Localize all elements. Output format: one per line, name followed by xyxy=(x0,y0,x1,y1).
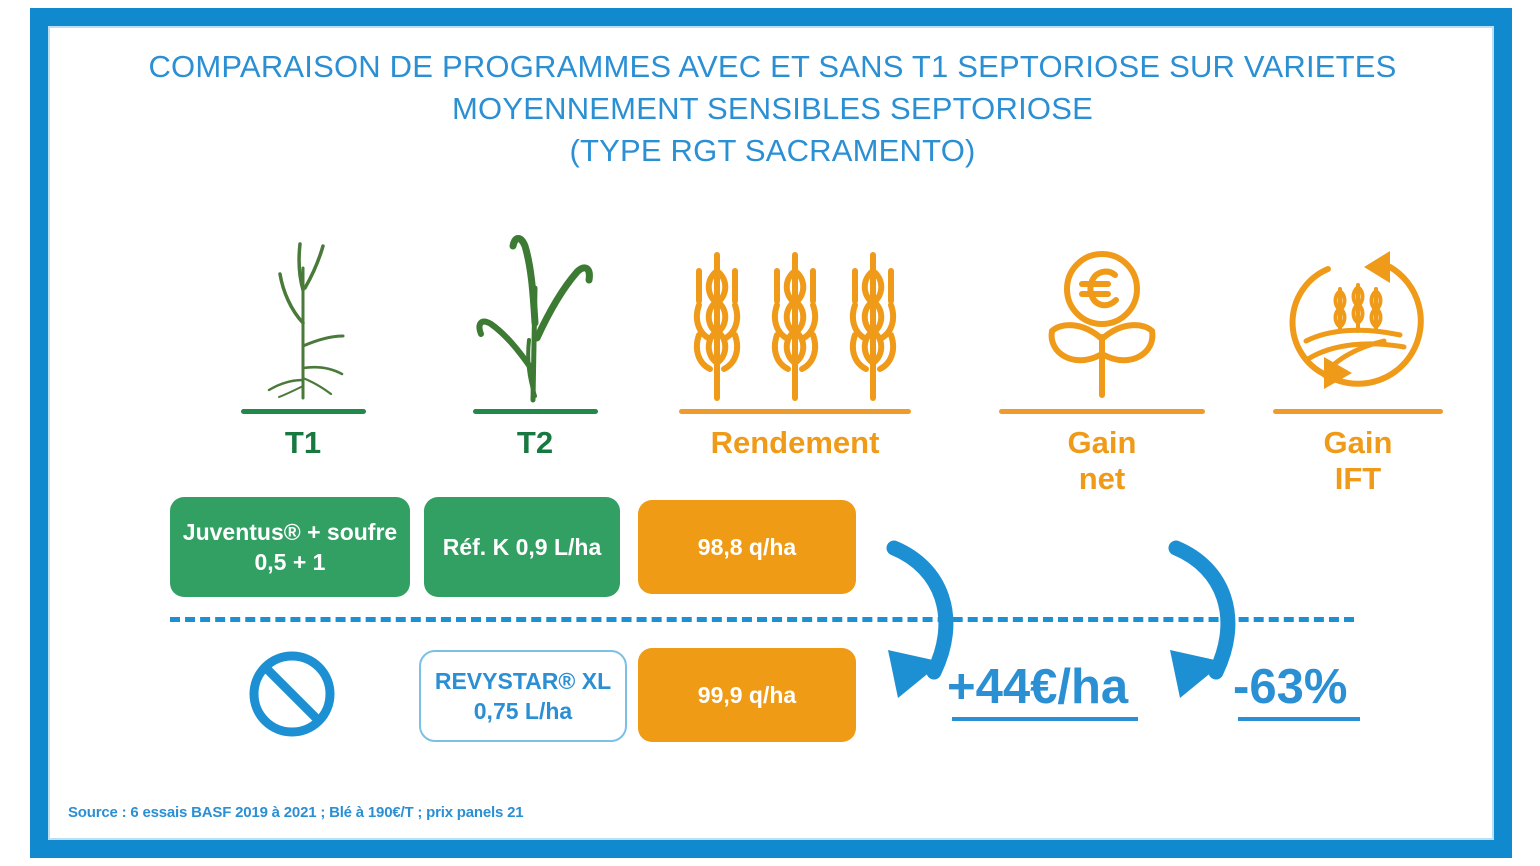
gain-ift-value: -63% xyxy=(1233,660,1347,714)
prohibition-icon xyxy=(246,648,338,740)
row1-t2-treatment: Réf. K 0,9 L/ha xyxy=(424,497,620,597)
source-note: Source : 6 essais BASF 2019 à 2021 ; Blé… xyxy=(68,804,523,821)
comparison-rows: Juventus® + soufre 0,5 + 1 Réf. K 0,9 L/… xyxy=(0,0,1540,866)
row1-t1-treatment: Juventus® + soufre 0,5 + 1 xyxy=(170,497,410,597)
row1-t1-text: Juventus® + soufre 0,5 + 1 xyxy=(183,517,397,577)
row1-rendement-value: 98,8 q/ha xyxy=(638,500,856,594)
infographic-root: COMPARAISON DE PROGRAMMES AVEC ET SANS T… xyxy=(0,0,1540,866)
row1-t1-line1: Juventus® + soufre xyxy=(183,519,397,545)
gain-net-value: +44€/ha xyxy=(947,660,1128,714)
gain-net-underline xyxy=(952,717,1138,721)
row2-t2-line1: REVYSTAR® XL xyxy=(435,668,611,694)
row2-t2-text: REVYSTAR® XL 0,75 L/ha xyxy=(435,666,611,726)
row1-t1-line2: 0,5 + 1 xyxy=(255,549,326,575)
row2-t2-treatment: REVYSTAR® XL 0,75 L/ha xyxy=(419,650,627,742)
gain-ift-underline xyxy=(1238,717,1360,721)
row2-rendement-value: 99,9 q/ha xyxy=(638,648,856,742)
row2-t2-line2: 0,75 L/ha xyxy=(474,698,572,724)
